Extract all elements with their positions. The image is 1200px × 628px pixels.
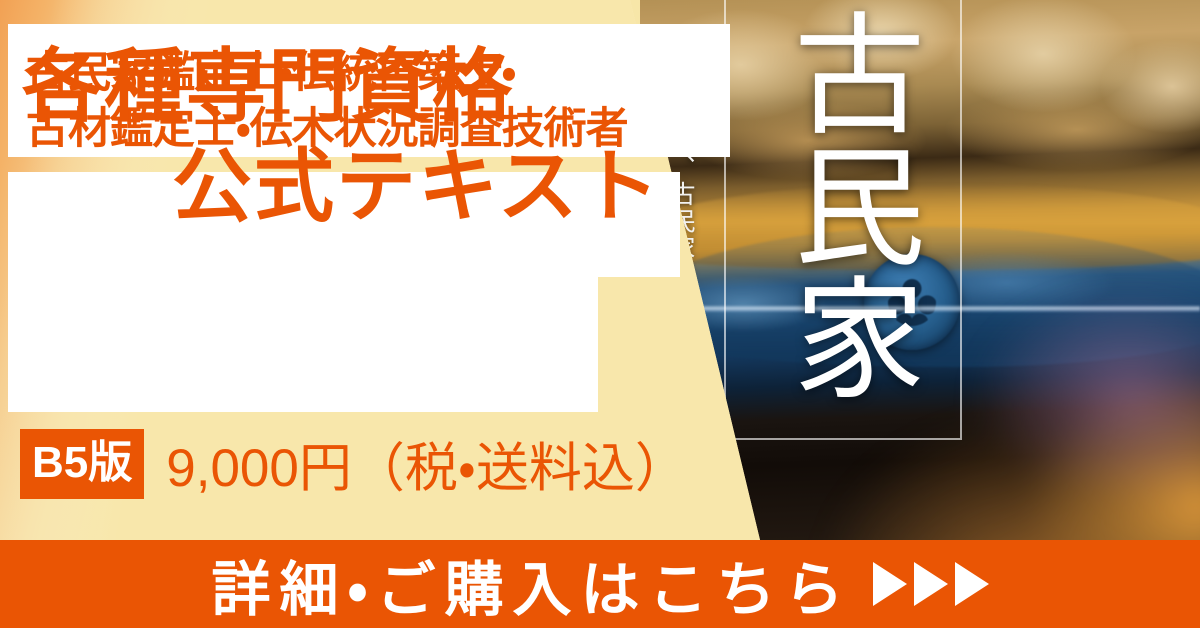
chevron-right-icon <box>873 562 907 606</box>
headline-line-1: 各種専門資格 <box>22 22 514 138</box>
price-row: B5版 9,000円（税・送料込） <box>0 428 688 500</box>
promo-banner: 伝統構法、古民家活用のための調査と再生の 古民家 古民家鑑定士・伝統再築士・ 古… <box>0 0 1200 628</box>
cta-label: 詳細・ご購入はこちら <box>211 542 852 627</box>
book-cover-title: 古民家 <box>768 6 918 402</box>
cta-bar[interactable]: 詳細・ご購入はこちら <box>0 540 1200 628</box>
format-badge-b5: B5版 <box>20 429 144 499</box>
cta-arrows <box>873 562 989 606</box>
chevron-right-icon <box>955 562 989 606</box>
price-amount: 9,000円（税・送料込） <box>166 426 688 502</box>
headline-line-2: 公式テキスト <box>172 122 662 238</box>
chevron-right-icon <box>914 562 948 606</box>
